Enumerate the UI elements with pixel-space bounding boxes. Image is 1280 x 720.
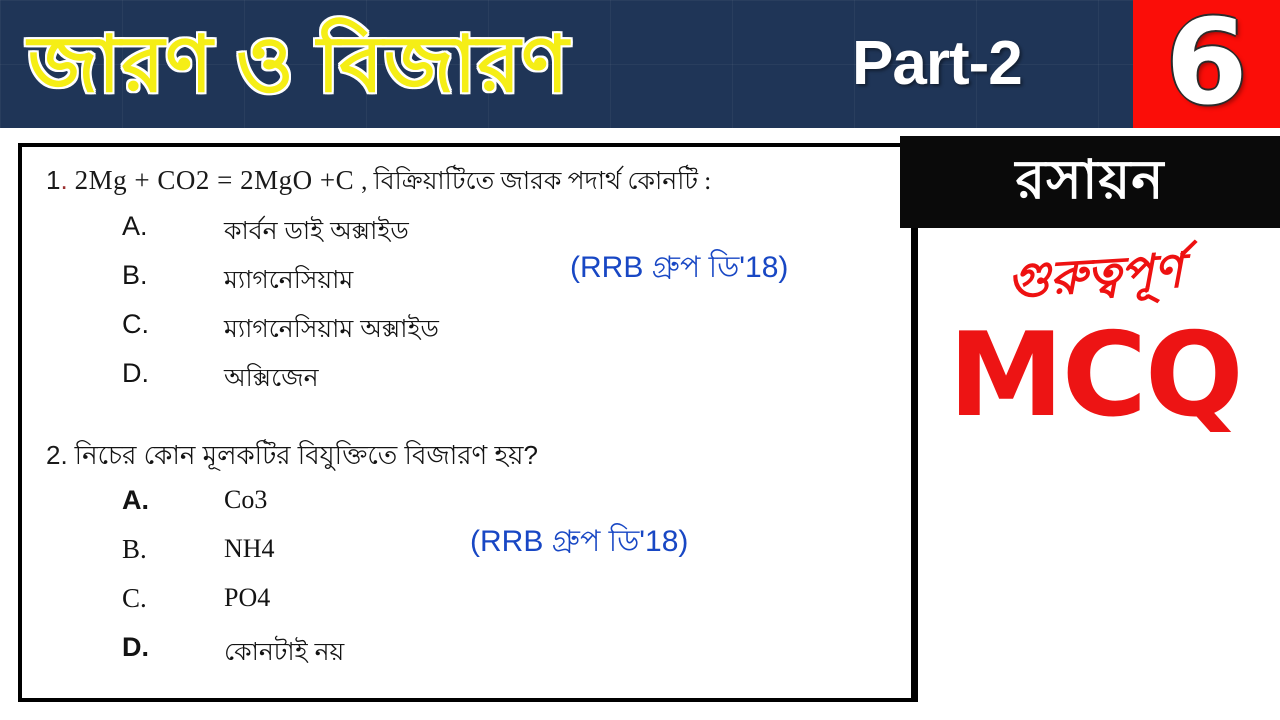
question-2-source-tag: (RRB গ্রুপ ডি'18) (470, 517, 688, 568)
option-text: PO4 (224, 583, 270, 613)
option-row[interactable]: A. Co3 (22, 485, 911, 533)
option-letter: C. (122, 583, 147, 614)
question-1-source-tag: (RRB গ্রুপ ডি'18) (570, 243, 788, 294)
question-2-prompt: নিচের কোন মূলকটির বিযুক্তিতে বিজারণ হয়? (75, 440, 538, 470)
question-2-number: 2. (46, 440, 68, 470)
option-row[interactable]: C. PO4 (22, 583, 911, 631)
option-row[interactable]: C. ম্যাগনেসিয়াম অক্সাইড (22, 309, 911, 357)
episode-number-value: 6 (1133, 0, 1280, 128)
mcq-label: MCQ (930, 316, 1260, 436)
question-1-text: 1. 2Mg + CO2 = 2MgO +C , বিক্রিয়াটিতে জ… (46, 161, 711, 204)
option-row[interactable]: B. NH4 (22, 534, 911, 582)
option-letter: A. (122, 211, 148, 242)
question-panel: 1. 2Mg + CO2 = 2MgO +C , বিক্রিয়াটিতে জ… (18, 143, 915, 702)
sidebar-divider (913, 228, 918, 702)
question-1-number: 1. (46, 165, 68, 195)
subject-label: রসায়ন (900, 136, 1280, 228)
option-text: কার্বন ডাই অক্সাইড (224, 211, 409, 254)
subject-banner: রসায়ন (900, 136, 1280, 228)
question-1-formula: 2Mg + CO2 = 2MgO +C (75, 165, 354, 195)
part-label: Part-2 (852, 18, 1022, 110)
question-2-text: 2. নিচের কোন মূলকটির বিযুক্তিতে বিজারণ হ… (46, 435, 538, 479)
option-letter: A. (122, 485, 149, 516)
option-text: NH4 (224, 534, 275, 564)
page-title: জারণ ও বিজারণ (28, 8, 828, 120)
option-text: ম্যাগনেসিয়াম (224, 260, 353, 303)
option-text: ম্যাগনেসিয়াম অক্সাইড (224, 309, 439, 352)
option-letter: B. (122, 260, 148, 291)
question-1-prompt: , বিক্রিয়াটিতে জারক পদার্থ কোনটি : (361, 168, 711, 195)
slide-root: জারণ ও বিজারণ Part-2 6 1. 2Mg + CO2 = 2M… (0, 0, 1280, 720)
option-letter: D. (122, 632, 149, 663)
option-letter: C. (122, 309, 149, 340)
header-bar: জারণ ও বিজারণ Part-2 (0, 0, 1280, 128)
option-letter: D. (122, 358, 149, 389)
option-text: অক্সিজেন (224, 358, 319, 401)
option-row[interactable]: D. অক্সিজেন (22, 358, 911, 406)
episode-number-badge: 6 (1133, 0, 1280, 128)
option-letter: B. (122, 534, 147, 565)
option-text: Co3 (224, 485, 267, 515)
option-row[interactable]: D. কোনটাই নয় (22, 632, 911, 680)
option-text: কোনটাই নয় (224, 632, 344, 675)
